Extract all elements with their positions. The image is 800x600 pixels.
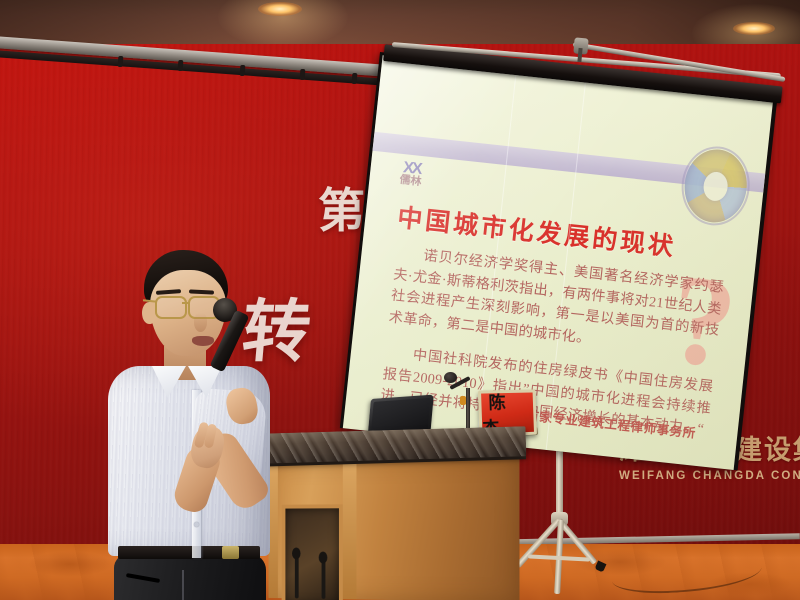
microphone-clip bbox=[460, 396, 466, 405]
microphone-head bbox=[444, 372, 457, 383]
recessed-downlight-icon bbox=[733, 22, 775, 35]
rail-hook bbox=[178, 60, 184, 71]
presenter bbox=[96, 250, 296, 600]
presenter-mouth bbox=[192, 336, 214, 346]
conference-room-photo: 第 十 转 型 潍坊昌大建设集团 WEIFANG CHANGDA CONSTRU… bbox=[0, 0, 800, 600]
glasses-bridge bbox=[182, 302, 190, 304]
rail-hook bbox=[240, 65, 246, 76]
wooden-lectern bbox=[256, 430, 526, 600]
trouser-crease bbox=[182, 570, 184, 600]
lectern-corner-post bbox=[343, 461, 357, 600]
rail-hook bbox=[118, 56, 124, 67]
belt-buckle bbox=[222, 546, 239, 559]
slide-logo: XX 儒林 bbox=[390, 161, 431, 199]
sponsor-name-en: WEIFANG CHANGDA CONSTRUCTION bbox=[619, 470, 800, 482]
recessed-downlight-icon bbox=[258, 2, 302, 16]
lectern-microphone-head bbox=[319, 552, 328, 564]
presenter-nose bbox=[194, 313, 207, 332]
presenter-ear bbox=[142, 302, 156, 324]
rail-hook bbox=[352, 73, 358, 84]
glasses-icon bbox=[155, 296, 187, 319]
projector-screen-unit: XX 儒林 中国城市化发展的现状 ? 诺贝尔经济学奖得主、美国著名经济学家约瑟夫… bbox=[378, 36, 798, 436]
lectern-body bbox=[269, 458, 520, 600]
rail-hook bbox=[300, 69, 306, 80]
lectern-microphone-icon bbox=[322, 559, 326, 598]
world-globe-icon bbox=[681, 146, 750, 225]
shirt-button bbox=[194, 522, 199, 527]
